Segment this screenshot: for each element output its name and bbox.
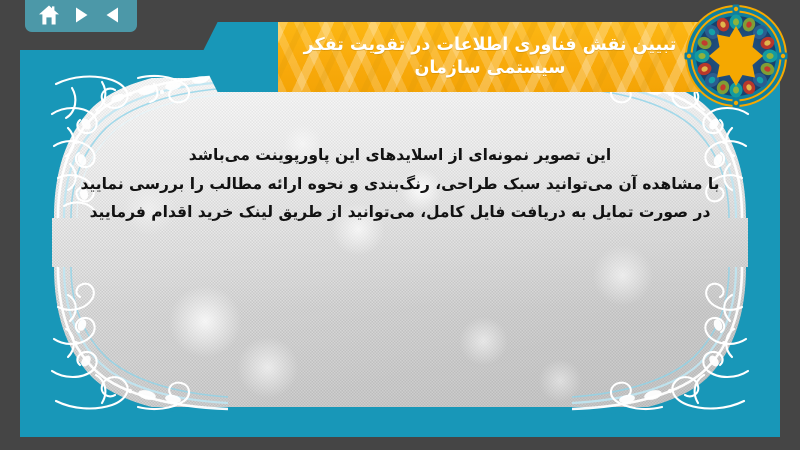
next-triangle-icon	[71, 5, 91, 25]
page-title: تبیین نقش فناوری اطلاعات در تقویت تفکر س…	[278, 34, 750, 80]
slide-frame: این تصویر نمونه‌ای از اسلایدهای این پاور…	[20, 50, 780, 437]
next-button[interactable]	[68, 3, 94, 27]
slide-canvas	[52, 78, 748, 407]
prev-triangle-icon	[103, 5, 123, 25]
slide-stage: این تصویر نمونه‌ای از اسلایدهای این پاور…	[0, 0, 800, 450]
body-line-2: با مشاهده آن می‌توانید سبک طراحی، رنگ‌بن…	[65, 177, 735, 193]
title-banner: تبیین نقش فناوری اطلاعات در تقویت تفکر س…	[278, 22, 750, 92]
prev-button[interactable]	[100, 3, 126, 27]
home-icon	[38, 5, 60, 26]
home-button[interactable]	[36, 3, 62, 27]
navigation-bar	[25, 0, 137, 32]
body-line-3: در صورت تمایل به دریافت فایل کامل، می‌تو…	[65, 205, 735, 221]
slide-body-text: این تصویر نمونه‌ای از اسلایدهای این پاور…	[65, 148, 735, 221]
body-line-1: این تصویر نمونه‌ای از اسلایدهای این پاور…	[65, 148, 735, 164]
